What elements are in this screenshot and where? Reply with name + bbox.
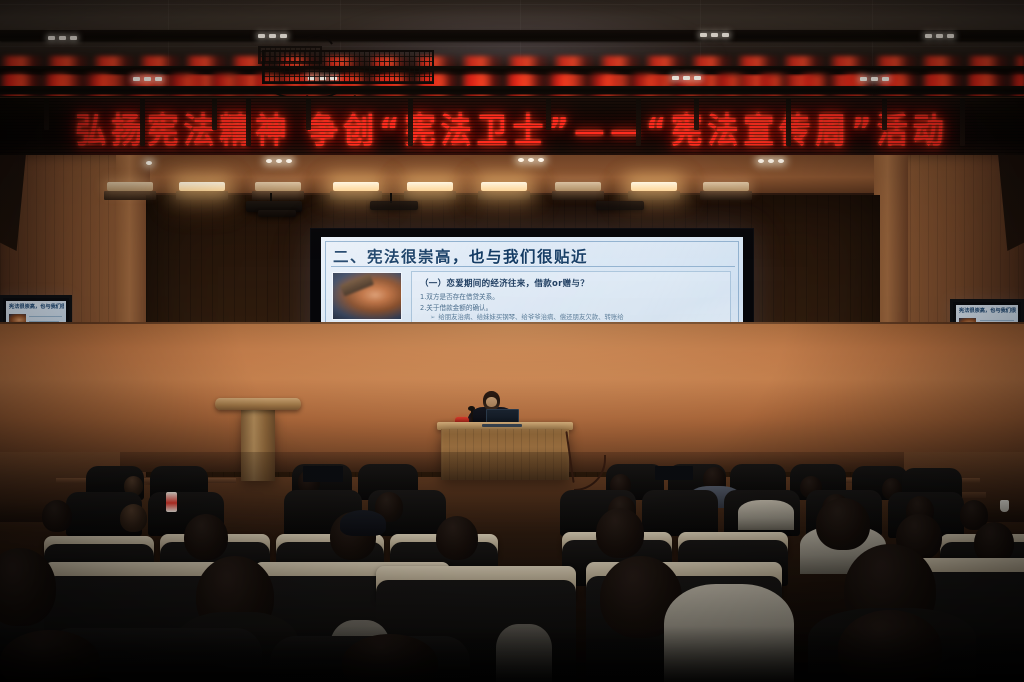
seat-back bbox=[642, 490, 718, 536]
table-microphone bbox=[468, 406, 475, 411]
spotlight-cluster bbox=[700, 33, 729, 37]
seat-marker bbox=[166, 492, 177, 512]
stage-light bbox=[255, 182, 301, 191]
stage-light bbox=[407, 182, 453, 191]
floor-equipment-case bbox=[303, 466, 343, 482]
banner-hook bbox=[408, 97, 413, 146]
spotlight-cluster bbox=[48, 36, 77, 40]
spotlight-cluster bbox=[258, 34, 287, 38]
ceiling-projector bbox=[370, 201, 418, 210]
stage-light bbox=[631, 182, 677, 191]
ceiling-projector bbox=[596, 201, 644, 210]
lectern-top bbox=[215, 398, 301, 410]
stage-light bbox=[481, 182, 527, 191]
presenter-face bbox=[486, 397, 497, 407]
spotlight-cluster bbox=[672, 76, 701, 80]
audience-head bbox=[596, 508, 644, 558]
ceiling bbox=[0, 0, 1024, 96]
right-monitor-title: 宪法很崇高，也与我们很贴近 bbox=[959, 307, 1016, 314]
auditorium-photo: 弘扬宪法精神 争创“宪法卫士”——“宪法宣传周”活动 bbox=[0, 0, 1024, 682]
banner-hook bbox=[44, 97, 49, 130]
audience-head bbox=[42, 500, 72, 532]
stage-light bbox=[107, 182, 153, 191]
floor-equipment-case bbox=[655, 466, 693, 480]
paper-cup bbox=[1000, 500, 1009, 512]
banner-hook bbox=[882, 97, 887, 130]
audience-area bbox=[0, 452, 1024, 682]
stage-light bbox=[179, 182, 225, 191]
mid-catwalk-bar bbox=[0, 66, 1024, 74]
laptop-base bbox=[482, 424, 522, 427]
slide-section-heading: （一）恋爱期间的经济往来，借款or赠与？ bbox=[420, 277, 724, 289]
left-monitor-title: 宪法很崇高，也与我们很贴近 bbox=[9, 303, 64, 310]
banner-text: 弘扬宪法精神 争创“宪法卫士”——“宪法宣传周”活动 bbox=[75, 102, 948, 152]
foreground-shadow bbox=[0, 626, 1024, 682]
audience-head bbox=[816, 498, 870, 550]
upper-catwalk-bar bbox=[0, 30, 1024, 41]
banner-hook bbox=[960, 97, 965, 146]
slide-bullet: ➢给朋友治病、给妹妹买钢琴、给爷爷治病、偿还朋友欠款、转账给 bbox=[430, 313, 724, 322]
bullet-arrow-icon: ➢ bbox=[430, 313, 435, 321]
spotlight-cluster bbox=[925, 34, 954, 38]
banner-hook bbox=[546, 97, 551, 130]
slide-numbered-item: 2.关于借款金额的确认。 bbox=[420, 302, 724, 312]
audience-shoulders-light bbox=[738, 500, 794, 530]
spotlight-cluster bbox=[860, 77, 889, 81]
banner-hook bbox=[140, 97, 145, 146]
banner-hook bbox=[212, 97, 217, 130]
slide-title: 二、宪法很崇高，也与我们很贴近 bbox=[333, 245, 733, 267]
banner-hook bbox=[786, 97, 791, 146]
slide-numbered-item: 1.双方是否存在借贷关系。 bbox=[420, 291, 724, 301]
banner-hook bbox=[636, 97, 641, 146]
ceiling-projector bbox=[258, 210, 296, 217]
gavel-photo bbox=[333, 273, 401, 319]
lower-catwalk-bar bbox=[0, 86, 1024, 94]
banner-hook bbox=[246, 97, 251, 146]
stage-light bbox=[703, 182, 749, 191]
stage-light bbox=[333, 182, 379, 191]
audience-head bbox=[120, 504, 147, 532]
audience-head bbox=[436, 516, 478, 560]
table-microphone-stand bbox=[471, 409, 473, 423]
spotlight-cluster bbox=[133, 77, 162, 81]
hanging-cable bbox=[300, 76, 362, 96]
banner-hook bbox=[694, 97, 699, 130]
stage-banner: 弘扬宪法精神 争创“宪法卫士”——“宪法宣传周”活动 bbox=[0, 97, 1024, 158]
baseball-cap bbox=[340, 510, 386, 536]
banner-hook bbox=[306, 97, 311, 130]
stage-light bbox=[555, 182, 601, 191]
audience-head bbox=[184, 514, 228, 560]
